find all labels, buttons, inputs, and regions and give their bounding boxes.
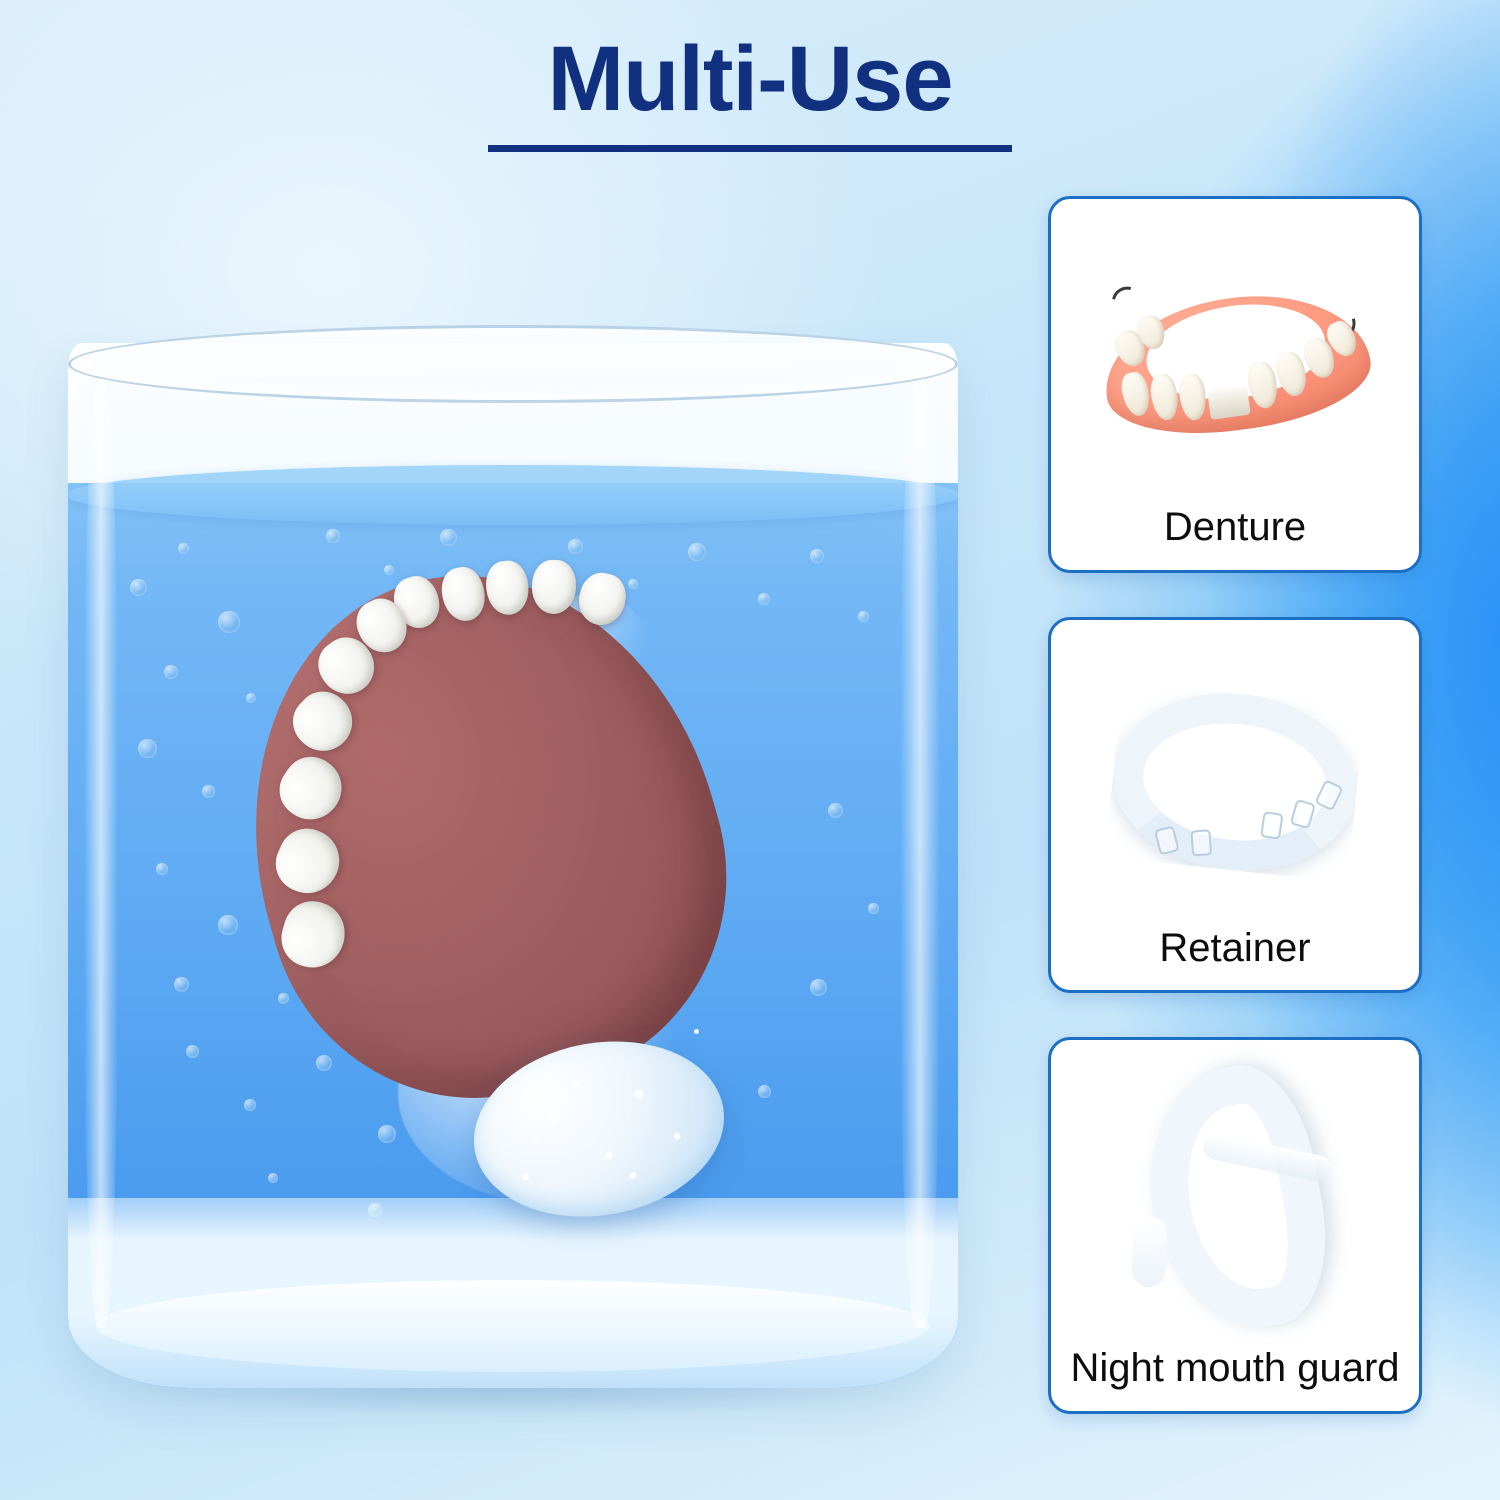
use-case-card-denture[interactable]: Denture [1048,196,1422,573]
mouth-guard-arch [1130,1056,1341,1343]
bubble [130,579,147,596]
clear-retainer-icon [1075,661,1395,901]
glass-base-ellipse [96,1280,930,1372]
glass-tumbler [68,343,958,1388]
retainer-figure [1061,636,1409,926]
use-case-card-list: Denture Retainer [1048,196,1422,1414]
bubble [174,977,189,992]
bubble [688,543,706,561]
title-underline-rule [488,145,1012,152]
bubble [202,785,215,798]
bubble [868,903,879,914]
mouth-guard-figure [1061,1056,1409,1346]
bubble [164,665,178,679]
bubble [326,529,340,543]
bubble [268,1173,278,1183]
bubble [758,1085,771,1098]
bubble [218,611,240,633]
bubble [178,543,189,554]
card-label-retainer: Retainer [1159,926,1310,977]
bubble [218,915,238,935]
glass-hero-image [60,325,965,1425]
card-label-denture: Denture [1164,505,1306,556]
water-surface-ellipse [68,465,958,525]
bubble [138,739,157,758]
use-case-card-night-mouth-guard[interactable]: Night mouth guard [1048,1037,1422,1414]
bubble [810,979,827,996]
page-title: Multi-Use [0,30,1500,129]
bubble [156,863,168,875]
bubble [278,993,289,1004]
bubble [858,611,869,622]
glass-rim [68,325,958,403]
page-title-block: Multi-Use [0,30,1500,152]
bubble [758,593,770,605]
bubble [810,549,824,563]
mouth-guard-icon [1078,1091,1391,1311]
mouth-guard-highlight [1131,1217,1167,1288]
bubble [828,803,843,818]
card-label-night-mouth-guard: Night mouth guard [1070,1346,1399,1397]
partial-denture-icon [1073,240,1398,480]
bubble [384,565,394,575]
denture-metal-bracket [1207,385,1251,420]
bubble [440,529,457,546]
denture-figure [1061,215,1409,505]
bubble [186,1045,199,1058]
retainer-tooth-notch [1260,811,1283,840]
use-case-card-retainer[interactable]: Retainer [1048,617,1422,994]
bubble [244,1099,256,1111]
retainer-tooth-notch [1190,829,1212,856]
product-feature-page: Multi-Use [0,0,1500,1500]
